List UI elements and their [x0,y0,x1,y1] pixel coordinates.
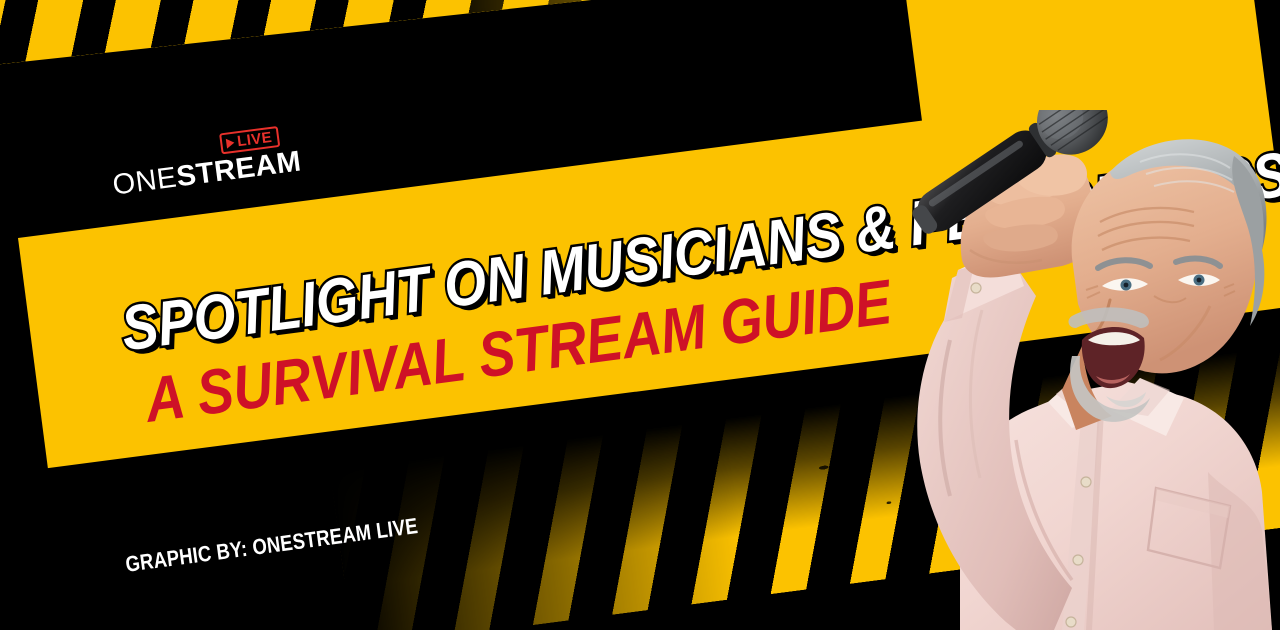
hazard-stripe-band-top [0,0,1280,69]
grunge-texture-top [0,0,1280,69]
nose [1096,300,1128,338]
performer-neck [1062,346,1112,430]
play-triangle-icon [226,137,235,148]
logo-wordmark: ONESTREAM [111,147,303,200]
logo-word-stream: STREAM [175,145,304,193]
poster-canvas: LIVE ONESTREAM SPOTLIGHT ON MUSICIANS & … [0,0,1280,630]
hazard-stripes-top [0,0,1280,69]
tongue [1096,374,1130,384]
performer-shirt [960,378,1272,630]
shirt-button [1066,617,1076,627]
shirt-button [1081,477,1091,487]
upper-teeth [1088,332,1140,345]
shirt-button [1073,555,1083,565]
moustache [1069,307,1149,328]
onestream-live-logo: LIVE ONESTREAM [108,124,303,201]
credit-line: GRAPHIC BY: ONESTREAM LIVE [124,506,475,578]
beard [1070,356,1150,422]
logo-word-one: ONE [111,162,179,202]
credit-line-text: GRAPHIC BY: ONESTREAM LIVE [124,513,419,578]
mouth-open [1082,327,1145,388]
live-badge-label: LIVE [236,130,273,149]
